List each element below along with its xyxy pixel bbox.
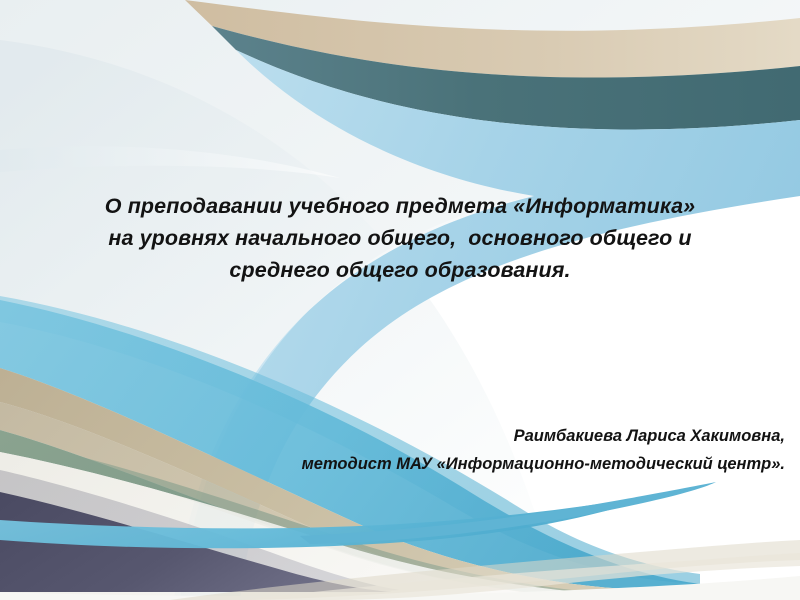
slide-title: О преподавании учебного предмета «Информ… xyxy=(60,190,740,286)
slide-text-layer: О преподавании учебного предмета «Информ… xyxy=(0,0,800,600)
credit-author-affiliation: методист МАУ «Информационно-методический… xyxy=(40,450,785,478)
title-line-1: О преподавании учебного предмета «Информ… xyxy=(60,190,740,222)
title-line-2: на уровнях начального общего, основного … xyxy=(60,222,740,254)
credit-author-name: Раимбакиева Лариса Хакимовна, xyxy=(40,422,785,450)
slide-credits: Раимбакиева Лариса Хакимовна, методист М… xyxy=(40,422,785,478)
title-line-3: среднего общего образования. xyxy=(60,254,740,286)
presentation-slide: О преподавании учебного предмета «Информ… xyxy=(0,0,800,600)
